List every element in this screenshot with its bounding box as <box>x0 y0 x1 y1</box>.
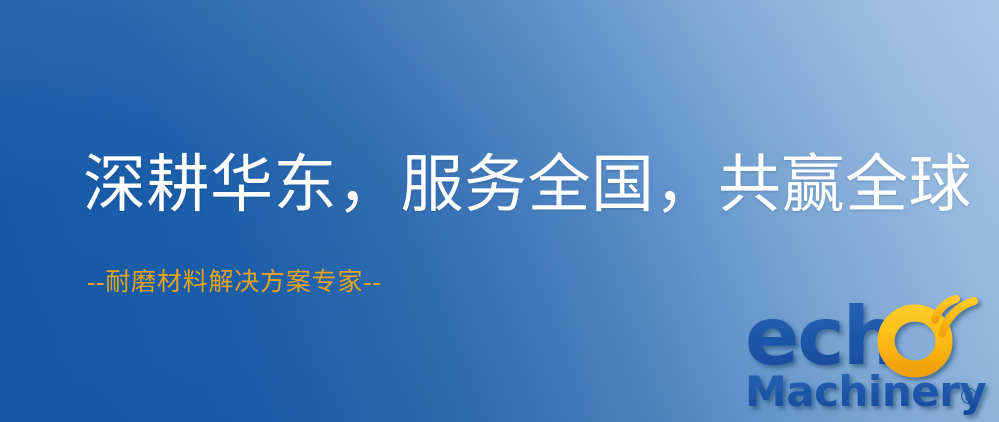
registered-mark: ® <box>958 385 980 410</box>
logo-tagline: Machinery <box>745 367 986 416</box>
hero-banner: 深耕华东，服务全国，共赢全球 --耐磨材料解决方案专家-- <box>0 0 999 422</box>
page-title: 深耕华东，服务全国，共赢全球 <box>83 151 972 219</box>
banner-subtitle: --耐磨材料解决方案专家-- <box>87 268 382 298</box>
company-logo[interactable]: ech Machinery ® <box>745 296 997 418</box>
